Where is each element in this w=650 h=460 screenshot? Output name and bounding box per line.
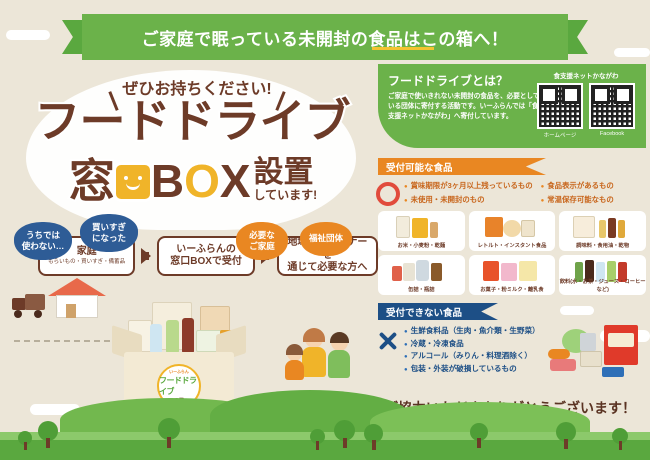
qr-column-homepage[interactable]: ホームページ (537, 83, 583, 139)
dashed-path (14, 340, 110, 342)
recipient-bubble-2: 福祉団体 (300, 222, 352, 256)
logo-mid-text: フードドライブ (159, 375, 199, 397)
rejected-foods-banner: 受付できない食品 (378, 303, 498, 320)
accepted-condition: 賞味期限が3ヶ月以上残っているもの (404, 180, 533, 191)
category-label: 調味料・食用油・乾物 (576, 241, 629, 249)
food-category-card: 缶詰・瓶詰 (378, 255, 465, 295)
tree-icon (18, 431, 32, 450)
person-hair (286, 344, 303, 355)
accepted-foods-banner: 受付可能な食品 (378, 158, 546, 175)
category-label: お米・小麦粉・乾麺 (397, 241, 445, 249)
accepted-condition: 未使用・未開封のもの (404, 194, 533, 205)
truck-bed (25, 294, 45, 310)
information-column: フードドライブとは？ ご家庭で使いきれない未開封の食品を、必要としている団体に寄… (378, 64, 646, 379)
accepted-condition: 常温保存可能なもの (541, 194, 614, 205)
category-art-cans (378, 258, 465, 284)
category-art-seasoning (559, 214, 646, 240)
food-item-tea-bottle (166, 320, 179, 354)
donation-box-illustration: いーふらん フードドライブ この箱へ (116, 300, 242, 410)
tree-icon (310, 429, 325, 450)
circle-ok-icon (376, 182, 400, 206)
rejected-foods-art (546, 323, 646, 377)
category-label: 飲料(水・お茶・ジュース・コーヒーなど) (559, 277, 646, 293)
ribbon-band: ご家庭で眠っている未開封の食品はこの箱へ！ (82, 14, 568, 60)
person-body (285, 360, 304, 380)
category-art-retort (469, 214, 556, 240)
flow-step-2-title: いーふらんの窓口BOXで受付 (170, 244, 242, 269)
ribbon-underline (372, 47, 434, 50)
smiley-eye-right (138, 176, 142, 180)
recipient-bubble-1: 必要なご家庭 (236, 222, 288, 260)
tree-icon (334, 420, 355, 448)
qr-column-facebook[interactable]: Facebook (589, 83, 635, 139)
house-icon (48, 278, 106, 318)
qr-section-heading: 食支援ネットかながわ (534, 70, 638, 80)
about-food-drive-panel: フードドライブとは？ ご家庭で使いきれない未開封の食品を、必要としている団体に寄… (378, 64, 646, 148)
smiley-square-icon (116, 165, 150, 199)
category-label: レトルト・インスタント食品 (478, 241, 547, 249)
accepted-col-1: 賞味期限が3ヶ月以上残っているもの 未使用・未開封のもの (404, 180, 533, 205)
hero-title-line1: フードドライブ (24, 98, 360, 144)
food-category-card: お菓子・粉ミルク・離乳食 (469, 255, 556, 295)
header-ribbon: ご家庭で眠っている未開封の食品はこの箱へ！ (0, 14, 650, 60)
qr-caption-facebook: Facebook (589, 131, 635, 137)
food-category-card: レトルト・インスタント食品 (469, 211, 556, 251)
qr-code-homepage[interactable] (537, 83, 583, 129)
accepted-conditions: 賞味期限が3ヶ月以上残っているもの 未使用・未開封のもの 食品表示があるもの 常… (378, 180, 646, 205)
house-body (56, 295, 98, 318)
tree-icon (556, 422, 576, 449)
ground-band (0, 440, 650, 460)
food-item-water-bottle (150, 324, 162, 354)
hero-title-x: X (220, 158, 251, 204)
truck-wheel (14, 310, 22, 318)
accepted-condition: 食品表示があるもの (541, 180, 614, 191)
qr-pair: ホームページ Facebook (534, 83, 638, 139)
qr-section: 食支援ネットかながわ ホームページ Facebook (534, 70, 638, 139)
qr-code-facebook[interactable] (589, 83, 635, 129)
tree-icon (470, 423, 488, 448)
smiley-mouth (126, 182, 140, 190)
hero-title-setchi: 設置 (254, 158, 314, 188)
tree-icon (612, 428, 628, 450)
tree-icon (158, 418, 180, 448)
category-label: 缶詰・瓶詰 (408, 285, 435, 293)
ribbon-headline: ご家庭で眠っている未開封の食品はこの箱へ！ (142, 25, 509, 50)
family-member-child (284, 346, 306, 380)
food-item-curry-pack (200, 306, 230, 332)
food-category-card: 飲料(水・お茶・ジュース・コーヒーなど) (559, 255, 646, 295)
tree-icon (38, 421, 58, 448)
house-door (66, 304, 76, 318)
truck-wheel (34, 310, 42, 318)
rejected-foods-title: 受付できない食品 (386, 305, 462, 319)
food-category-grid: お米・小麦粉・乾麺 レトルト・インスタント食品 調味料・食用油・乾物 (378, 211, 646, 295)
accepted-col-2: 食品表示があるもの 常温保存可能なもの (541, 180, 614, 205)
family-member-father (326, 334, 352, 380)
hero-title-setchi-stack: 設置 しています! (254, 158, 318, 204)
truck-cab (12, 298, 26, 310)
about-body: ご家庭で使いきれない未開封の食品を、必要としている団体に寄付する活動です。いーふ… (388, 92, 540, 123)
hero-title-line2: 窓 B O X 設置 しています! (18, 148, 368, 204)
cross-ng-icon (378, 331, 398, 351)
accepted-foods-title: 受付可能な食品 (386, 160, 453, 174)
thought-bubble-1: うちでは使わない… (14, 222, 72, 260)
poster-root: ご家庭で眠っている未開封の食品はこの箱へ！ ぜひお持ちください! フードドライブ… (0, 0, 650, 460)
rejected-list-wrap: 生鮮食料品（生肉・魚介類・生野菜） 冷蔵・冷凍食品 アルコール（みりん・料理酒除… (378, 325, 646, 379)
hero-title-b: B (151, 158, 184, 204)
qr-caption-homepage: ホームページ (537, 131, 583, 139)
food-category-card: お米・小麦粉・乾麺 (378, 211, 465, 251)
category-label: お菓子・粉ミルク・離乳食 (480, 285, 543, 293)
smiley-eye-left (124, 176, 128, 180)
person-hair (303, 328, 325, 342)
hero-title-o: O (184, 158, 220, 204)
category-art-rice (378, 214, 465, 240)
tree-icon (364, 424, 383, 450)
person-body (328, 350, 350, 378)
house-roof (48, 278, 106, 296)
hero-title-mado: 窓 (69, 158, 115, 204)
person-hair (330, 332, 349, 343)
truck-icon (12, 292, 46, 318)
thought-bubble-2: 買いすぎになった (80, 214, 138, 252)
flow-arrow-icon (141, 248, 151, 264)
hero-title-shiteimasu: しています! (254, 188, 318, 204)
food-item-soy-bottle (182, 318, 194, 354)
category-art-snacks (469, 258, 556, 284)
food-category-card: 調味料・食用油・乾物 (559, 211, 646, 251)
flow-step-1-subtitle: もらいもの・買いすぎ・備蓄品 (48, 259, 125, 266)
